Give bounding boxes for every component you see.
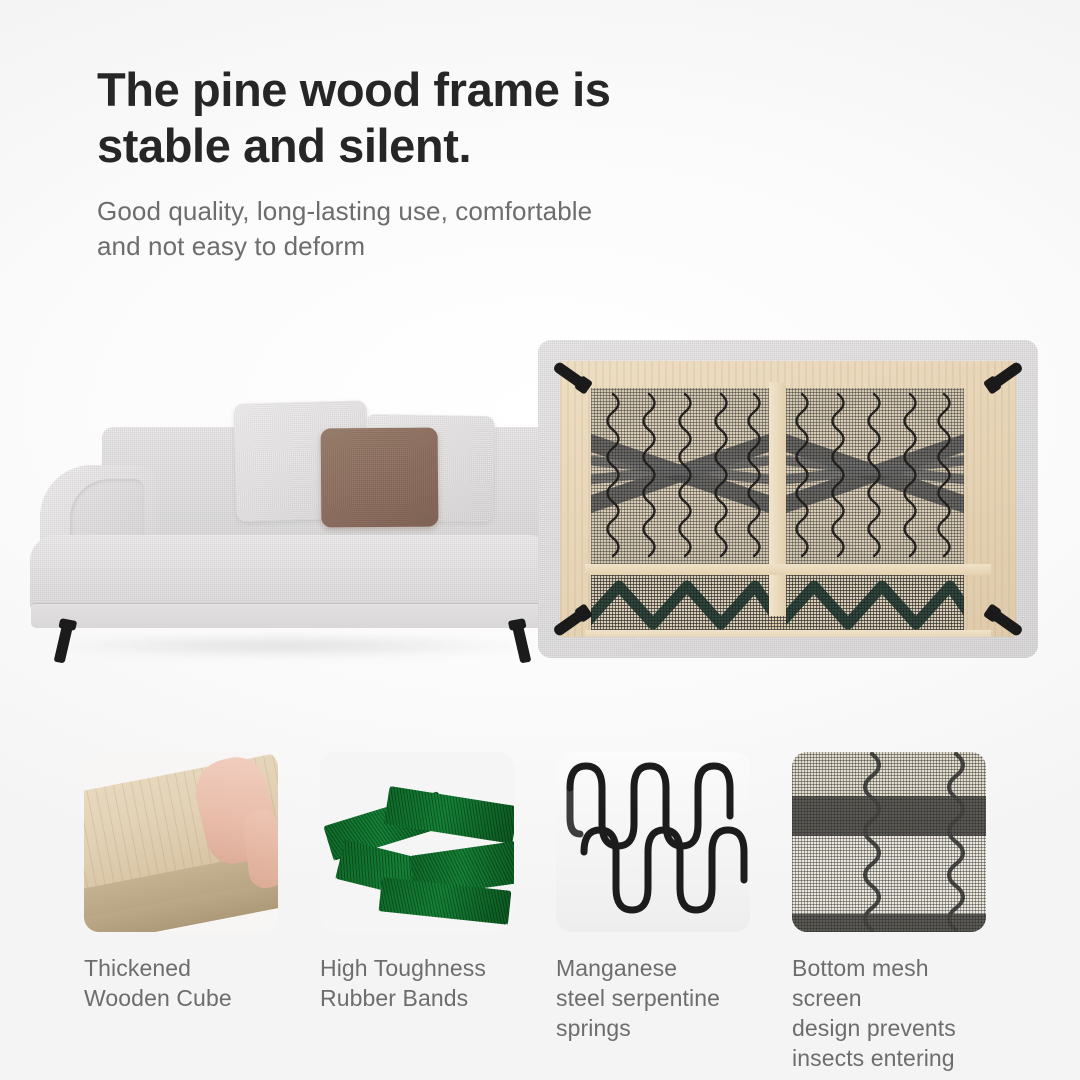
frame-underside-illustration (538, 340, 1038, 658)
sofa-base-plinth (31, 603, 553, 628)
feature-item: Manganese steel serpentine springs (556, 752, 750, 1072)
frame-middle-rail (585, 564, 991, 575)
brown-pillow-center (321, 427, 439, 527)
green-webbing-zigzag (786, 574, 964, 630)
feature-caption: Thickened Wooden Cube (84, 954, 278, 1014)
page-subtitle: Good quality, long-lasting use, comforta… (97, 194, 857, 264)
serpentine-spring-thumbnail[interactable] (556, 752, 750, 932)
serpentine-springs (591, 388, 769, 564)
frame-center-rail (769, 382, 786, 616)
feature-thumbnail-row: Thickened Wooden Cube High Toughness Rub… (0, 752, 1080, 1072)
frame-panel-top-right (786, 388, 964, 564)
header-text-block: The pine wood frame is stable and silent… (97, 62, 857, 263)
page-title: The pine wood frame is stable and silent… (97, 62, 857, 175)
feature-caption: Manganese steel serpentine springs (556, 954, 750, 1044)
green-webbing-zigzag (591, 574, 769, 630)
frame-panel-bottom-right (786, 574, 964, 630)
frame-bottom-rail (585, 630, 991, 637)
thumbnail-background (556, 752, 750, 932)
sofa-seat-cushion (30, 535, 554, 611)
feature-item: Thickened Wooden Cube (84, 752, 278, 1072)
green-rubber-band-thumbnail[interactable] (320, 752, 514, 932)
feature-item: High Toughness Rubber Bands (320, 752, 514, 1072)
wood-plank-thumbnail[interactable] (84, 752, 278, 932)
sofa-illustration (18, 375, 558, 680)
feature-item: Bottom mesh screen design prevents insec… (792, 752, 986, 1072)
pine-wood-frame (560, 361, 1016, 637)
hero-product-image (0, 300, 1080, 700)
mesh-texture-overlay (792, 752, 986, 932)
feature-caption: High Toughness Rubber Bands (320, 954, 514, 1014)
serpentine-springs (786, 388, 964, 564)
serpentine-spring-graphic (556, 752, 750, 932)
sofa-shadow (38, 633, 538, 659)
feature-caption: Bottom mesh screen design prevents insec… (792, 954, 986, 1074)
frame-panel-top-left (591, 388, 769, 564)
frame-panel-bottom-left (591, 574, 769, 630)
mesh-screen-thumbnail[interactable] (792, 752, 986, 932)
